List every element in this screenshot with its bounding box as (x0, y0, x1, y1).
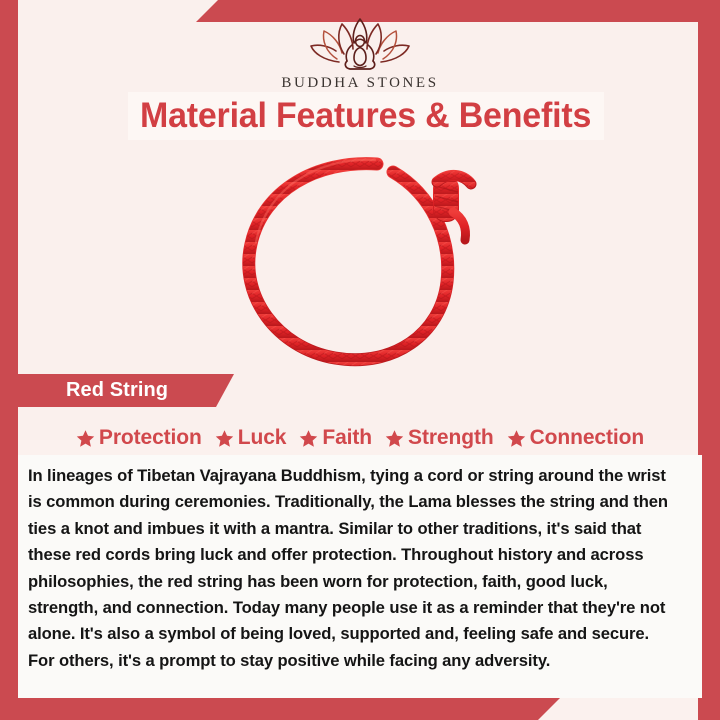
bottom-left-accent-band (0, 698, 560, 720)
brand-logo: BUDDHA STONES (0, 16, 720, 92)
product-name-banner: Red String (18, 374, 234, 407)
star-icon (385, 429, 404, 448)
feature-item-connection: Connection (507, 426, 645, 450)
feature-list: Protection Luck Faith Strength Connectio (18, 421, 702, 455)
product-name-text: Red String (18, 379, 168, 402)
description-panel: In lineages of Tibetan Vajrayana Buddhis… (18, 455, 702, 698)
product-image (18, 146, 702, 372)
star-icon (299, 429, 318, 448)
infographic-poster: BUDDHA STONES Material Features & Benefi… (0, 0, 720, 720)
feature-label: Faith (322, 426, 372, 450)
feature-item-faith: Faith (299, 426, 372, 450)
feature-item-luck: Luck (215, 426, 287, 450)
left-accent-band (0, 0, 18, 700)
feature-label: Protection (99, 426, 202, 450)
feature-label: Connection (530, 426, 645, 450)
page-title-text: Material Features & Benefits (140, 96, 591, 136)
star-icon (76, 429, 95, 448)
page-title: Material Features & Benefits (128, 92, 604, 140)
red-braided-string-bracelet-icon (225, 146, 495, 372)
feature-item-protection: Protection (76, 426, 202, 450)
star-icon (507, 429, 526, 448)
feature-item-strength: Strength (385, 426, 494, 450)
description-text: In lineages of Tibetan Vajrayana Buddhis… (28, 463, 678, 674)
lotus-meditation-icon (308, 16, 412, 72)
star-icon (215, 429, 234, 448)
feature-label: Strength (408, 426, 494, 450)
brand-name: BUDDHA STONES (0, 75, 720, 92)
feature-label: Luck (238, 426, 287, 450)
